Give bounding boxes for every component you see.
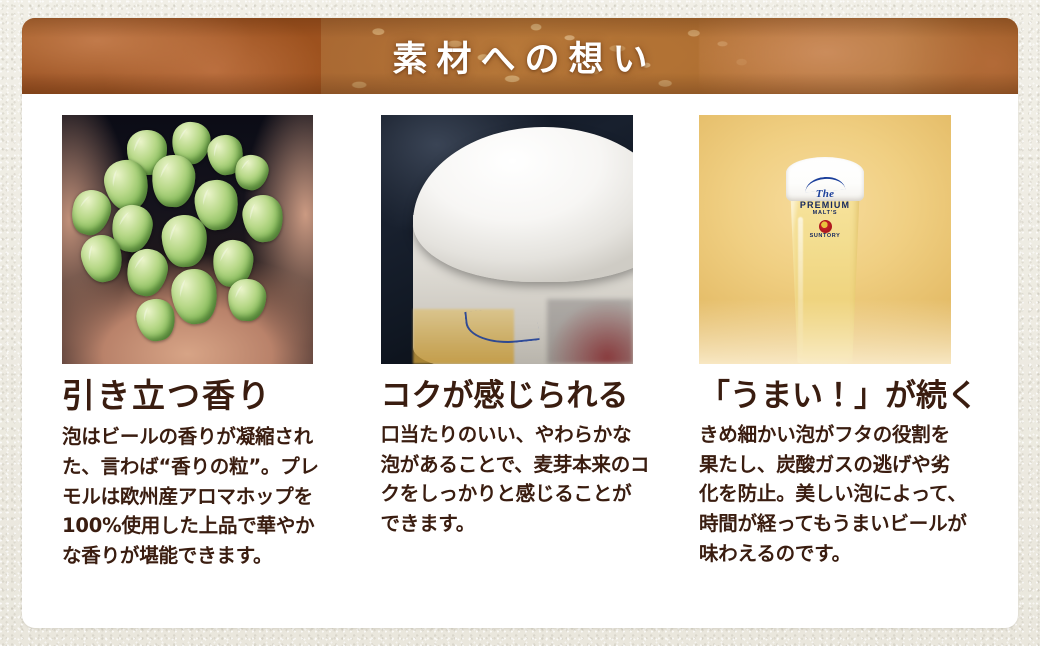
content-card: 素材への想い [22,18,1018,628]
feature-columns: 引き立つ香り 泡はビールの香りが凝縮された、言わば“香りの粒”。プレモルは欧州産… [22,94,1018,570]
header-banner: 素材への想い [22,18,1018,94]
page-title: 素材への想い [22,18,1018,94]
feature-column-2: コクが感じられる 口当たりのいい、やわらかな泡があることで、麦芽本来のコクをしっ… [381,115,655,570]
premium-malts-logo: The PREMIUM MALT'S SUNTORY [785,177,865,239]
beer-glass: The PREMIUM MALT'S SUNTORY [785,157,865,364]
feature-body: 口当たりのいい、やわらかな泡があることで、麦芽本来のコクをしっかりと感じることが… [381,420,651,539]
feature-column-3: The PREMIUM MALT'S SUNTORY 「うまい！」が続く きめ細… [699,115,978,570]
feature-heading: コクが感じられる [381,379,655,413]
feature-body: きめ細かい泡がフタの役割を果たし、炭酸ガスの逃げや劣化を防止。美しい泡によって、… [699,420,969,568]
suntory-emblem-icon [819,220,832,233]
foam-head [413,127,632,281]
logo-suntory-text: SUNTORY [785,234,865,240]
feature-column-1: 引き立つ香り 泡はビールの香りが凝縮された、言わば“香りの粒”。プレモルは欧州産… [62,115,336,570]
feature-heading: 引き立つ香り [62,379,336,415]
feature-heading: 「うまい！」が続く [699,379,978,413]
hops-in-hands-photo [62,115,313,364]
feature-body: 泡はビールの香りが凝縮された、言わば“香りの粒”。プレモルは欧州産アロマホップを… [62,422,332,570]
premium-malts-glass-photo: The PREMIUM MALT'S SUNTORY [699,115,951,364]
foam-shadow [547,299,633,364]
logo-malts-text: MALT'S [785,211,865,217]
beer-foam-closeup-photo [381,115,633,364]
logo-premium-text: PREMIUM [785,201,865,210]
